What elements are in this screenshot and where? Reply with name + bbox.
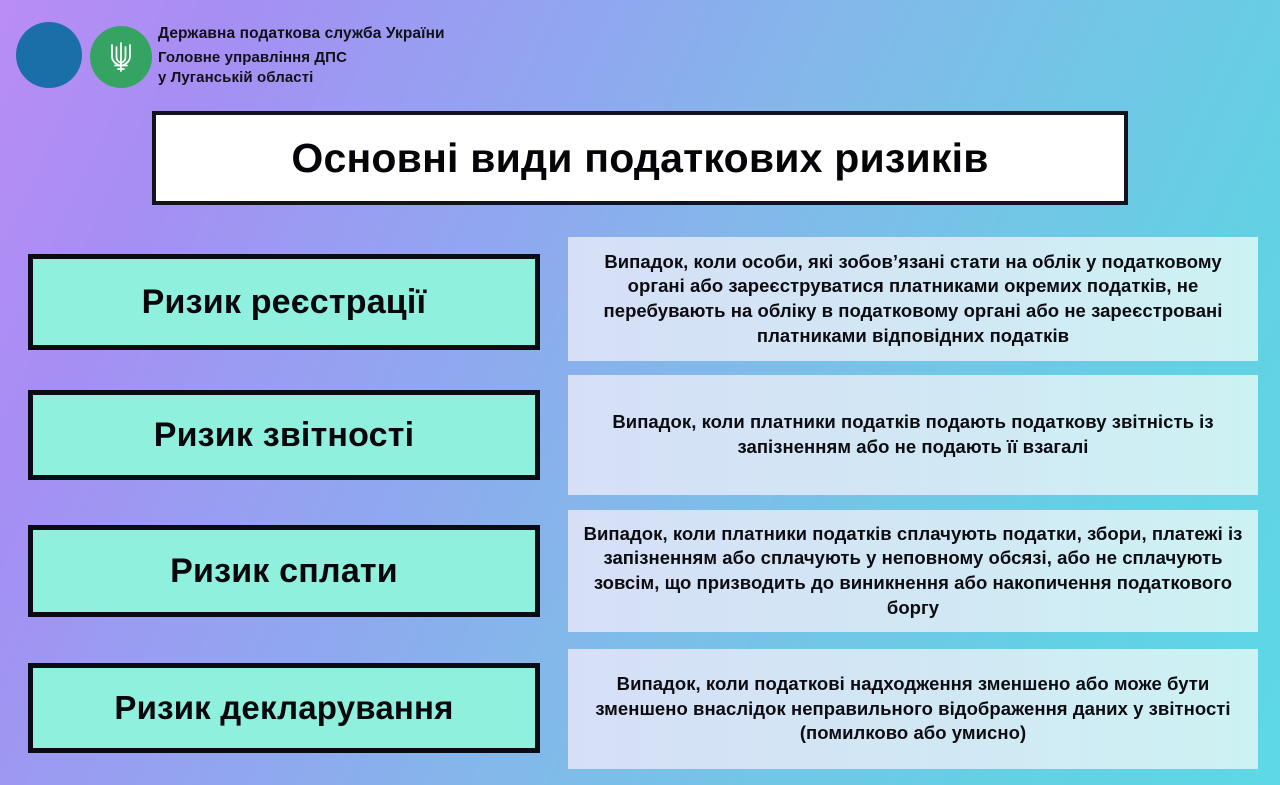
risk-box-registration: Ризик реєстрації: [28, 254, 540, 350]
risk-label: Ризик декларування: [114, 689, 453, 727]
risk-row: Ризик реєстрації Випадок, коли особи, як…: [0, 254, 1280, 350]
risk-description-payment: Випадок, коли платники податків сплачуют…: [568, 510, 1258, 632]
risk-row: Ризик сплати Випадок, коли платники пода…: [0, 525, 1280, 617]
risk-box-declaration: Ризик декларування: [28, 663, 540, 753]
risk-description-reporting: Випадок, коли платники податків подають …: [568, 375, 1258, 495]
risk-label: Ризик звітності: [154, 416, 415, 455]
risk-label: Ризик реєстрації: [142, 283, 427, 322]
risk-label: Ризик сплати: [170, 552, 398, 591]
risk-description-declaration: Випадок, коли податкові надходження змен…: [568, 649, 1258, 769]
risk-row: Ризик звітності Випадок, коли платники п…: [0, 390, 1280, 480]
risk-description-text: Випадок, коли податкові надходження змен…: [582, 672, 1244, 746]
risk-row: Ризик декларування Випадок, коли податко…: [0, 663, 1280, 753]
risk-box-payment: Ризик сплати: [28, 525, 540, 617]
risk-description-registration: Випадок, коли особи, які зобов’язані ста…: [568, 237, 1258, 361]
risk-rows: Ризик реєстрації Випадок, коли особи, як…: [0, 0, 1280, 785]
risk-description-text: Випадок, коли платники податків сплачуют…: [582, 522, 1244, 620]
risk-description-text: Випадок, коли особи, які зобов’язані ста…: [582, 250, 1244, 348]
risk-box-reporting: Ризик звітності: [28, 390, 540, 480]
risk-description-text: Випадок, коли платники податків подають …: [582, 410, 1244, 459]
